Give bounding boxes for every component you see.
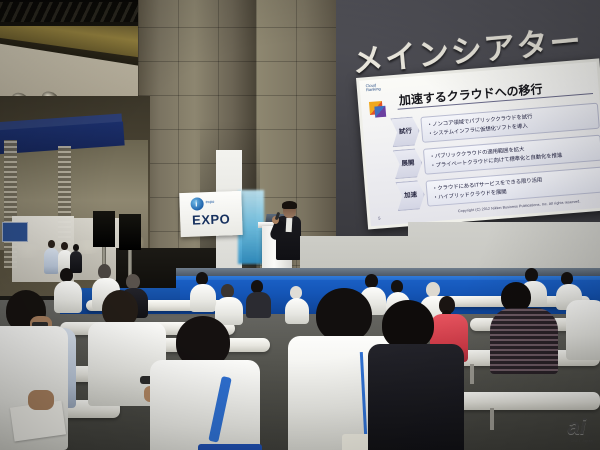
tote-bag [198,444,262,450]
booth-monitor [2,222,28,242]
expo-theater-photo: i expo EXPO メインシアター CloudRanking 加速するクラウ… [0,0,600,450]
head [61,242,68,250]
head [73,244,79,251]
pa-speaker [119,214,141,250]
presenter-hair [282,201,297,209]
head [60,268,73,282]
watermark-subtext: CNET Japan [571,439,593,443]
head-gray-hair [98,264,111,279]
pa-speaker [93,211,115,247]
head [382,300,434,350]
slide-page-number: 5 [378,215,381,220]
torso [54,281,82,313]
row-label: 試行 [392,124,419,136]
torso [566,300,600,360]
torso [44,248,59,274]
expo-sign: i expo EXPO [179,191,242,237]
head [365,274,378,288]
row-label: 展開 [395,156,422,168]
head-with-cap [126,274,140,289]
slide-title: 加速するクラウドへの移行 [398,80,543,108]
expo-sign-label: EXPO [180,211,242,228]
torso [150,360,260,450]
head [525,268,538,282]
head-with-cap [426,282,440,297]
row-label: 加速 [397,188,424,200]
torso [368,344,464,450]
expo-logo-subtext: expo [205,199,214,204]
head [48,240,55,248]
head [221,284,234,298]
torso [190,284,216,312]
torso [285,298,309,324]
head [316,288,372,342]
expo-logo-letter: i [195,199,198,208]
presenter-shirt [286,218,293,232]
torso [490,308,558,374]
torso [70,251,82,273]
slide-logo-icon [369,101,383,115]
torso [246,292,271,318]
bench-leg [490,408,494,430]
bench-leg [470,364,474,384]
presentation-slide: CloudRanking 加速するクラウドへの移行 試行 ・ノンコア領域でパブリ… [359,62,600,227]
hand [28,390,54,410]
watermark: ai CNET Japan [554,416,596,446]
projection-screen: CloudRanking 加速するクラウドへの移行 試行 ・ノンコア領域でパブリ… [356,58,600,229]
watermark-mark: ai [568,416,586,438]
